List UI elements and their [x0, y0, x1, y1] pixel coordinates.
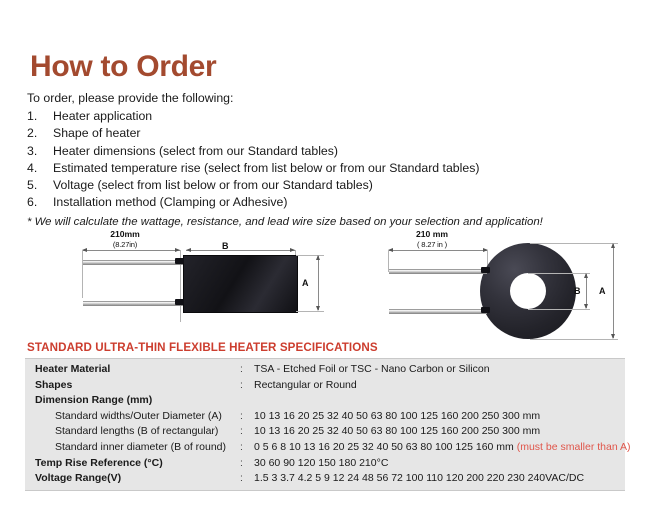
extension-line [528, 309, 590, 310]
spec-colon: : [240, 409, 254, 425]
extension-line [530, 243, 618, 244]
spec-value: 1.5 3 3.7 4.2 5 9 12 24 48 56 72 100 110… [254, 471, 625, 487]
spec-value: 30 60 90 120 150 180 210°C [254, 456, 625, 472]
dimension-label-a: A [599, 286, 606, 296]
list-item-label: Estimated temperature rise (select from … [53, 160, 627, 177]
table-row: Voltage Range(V) : 1.5 3 3.7 4.2 5 9 12 … [25, 471, 625, 487]
lead-length-label: 210 mm ( 8.27 in ) [394, 230, 470, 249]
list-item: 5. Voltage (select from list below or fr… [27, 177, 627, 194]
arrowhead-down-icon [316, 306, 320, 311]
spec-colon: : [240, 440, 254, 456]
dimension-label-a: A [302, 278, 309, 288]
list-item-number: 4. [27, 160, 53, 177]
spec-colon: : [240, 471, 254, 487]
arrowhead-up-icon [316, 255, 320, 260]
spec-label: Standard widths/Outer Diameter (A) [25, 409, 240, 425]
specifications-table: Heater Material : TSA - Etched Foil or T… [25, 358, 625, 491]
spec-section-heading: STANDARD ULTRA-THIN FLEXIBLE HEATER SPEC… [27, 341, 378, 354]
lead-boot-top [481, 267, 490, 273]
lead-wire-bottom [389, 309, 487, 314]
extension-line [296, 311, 324, 312]
extension-line [82, 250, 83, 298]
lead-wire-top [389, 269, 487, 274]
list-item-number: 5. [27, 177, 53, 194]
spec-value-note: (must be smaller than A) [517, 441, 631, 453]
intro-text: To order, please provide the following: [27, 90, 627, 107]
list-item: 2. Shape of heater [27, 125, 627, 142]
lead-wire-bottom [83, 301, 183, 306]
list-item-label: Voltage (select from list below or from … [53, 177, 627, 194]
heater-inner-hole [510, 273, 546, 309]
lead-boot-bottom [481, 307, 490, 313]
list-item: 1. Heater application [27, 108, 627, 125]
arrowhead-down-icon [584, 304, 588, 309]
table-row: Heater Material : TSA - Etched Foil or T… [25, 362, 625, 378]
list-item: 6. Installation method (Clamping or Adhe… [27, 194, 627, 211]
list-item-label: Installation method (Clamping or Adhesiv… [53, 194, 627, 211]
dimension-line-b [186, 250, 295, 251]
spec-label: Heater Material [25, 362, 240, 378]
list-item-number: 6. [27, 194, 53, 211]
dimension-label-b: B [574, 286, 581, 296]
spec-value: TSA - Etched Foil or TSC - Nano Carbon o… [254, 362, 625, 378]
list-item-number: 2. [27, 125, 53, 142]
table-row: Standard widths/Outer Diameter (A) : 10 … [25, 409, 625, 425]
list-item-number: 1. [27, 108, 53, 125]
spec-label: Temp Rise Reference (°C) [25, 456, 240, 472]
table-row: Temp Rise Reference (°C) : 30 60 90 120 … [25, 456, 625, 472]
arrowhead-up-icon [584, 273, 588, 278]
spec-value: 10 13 16 20 25 32 40 50 63 80 100 125 16… [254, 424, 625, 440]
order-steps-list: 1. Heater application 2. Shape of heater… [27, 108, 627, 212]
order-instructions: To order, please provide the following: … [27, 90, 627, 230]
table-row: Dimension Range (mm) [25, 393, 625, 409]
round-heater-diagram: 210 mm ( 8.27 in ) B A [380, 228, 635, 340]
list-item: 3. Heater dimensions (select from our St… [27, 143, 627, 160]
spec-label: Shapes [25, 378, 240, 394]
table-row: Standard lengths (B of rectangular) : 10… [25, 424, 625, 440]
extension-line [296, 255, 324, 256]
lead-boot-top [175, 258, 184, 264]
product-diagrams: 210mm (8.27in) B A 210 mm ( 8 [0, 228, 650, 343]
rectangular-heater-diagram: 210mm (8.27in) B A [70, 228, 335, 340]
table-row: Shapes : Rectangular or Round [25, 378, 625, 394]
list-item-label: Heater dimensions (select from our Stand… [53, 143, 627, 160]
dimension-line-lead [82, 250, 180, 251]
spec-label: Voltage Range(V) [25, 471, 240, 487]
lead-wire-top [83, 260, 183, 265]
list-item-number: 3. [27, 143, 53, 160]
arrowhead-down-icon [611, 334, 615, 339]
extension-line [528, 273, 590, 274]
list-item-label: Shape of heater [53, 125, 627, 142]
spec-label: Standard lengths (B of rectangular) [25, 424, 240, 440]
dimension-line-lead [388, 250, 488, 251]
spec-label: Standard inner diameter (B of round) [25, 440, 240, 456]
dimension-line-b [586, 274, 587, 308]
list-item: 4. Estimated temperature rise (select fr… [27, 160, 627, 177]
spec-colon: : [240, 362, 254, 378]
spec-value: 0 5 6 8 10 13 16 20 25 32 40 50 63 80 10… [254, 440, 631, 456]
arrowhead-up-icon [611, 243, 615, 248]
spec-colon: : [240, 424, 254, 440]
dimension-line-a [318, 256, 319, 310]
spec-value: Rectangular or Round [254, 378, 625, 394]
lead-boot-bottom [175, 299, 184, 305]
spec-colon: : [240, 456, 254, 472]
extension-line [530, 339, 618, 340]
spec-colon: : [240, 378, 254, 394]
page-title: How to Order [30, 52, 216, 82]
spec-value-text: 0 5 6 8 10 13 16 20 25 32 40 50 63 80 10… [254, 441, 514, 453]
dimension-line-a [613, 244, 614, 338]
list-item-label: Heater application [53, 108, 627, 125]
arrowhead-left-icon [186, 248, 191, 252]
spec-label: Dimension Range (mm) [25, 393, 240, 409]
lead-length-label: 210mm (8.27in) [90, 230, 160, 249]
spec-value: 10 13 16 20 25 32 40 50 63 80 100 125 16… [254, 409, 625, 425]
table-row: Standard inner diameter (B of round) : 0… [25, 440, 625, 456]
heater-body-rectangular [183, 255, 298, 313]
